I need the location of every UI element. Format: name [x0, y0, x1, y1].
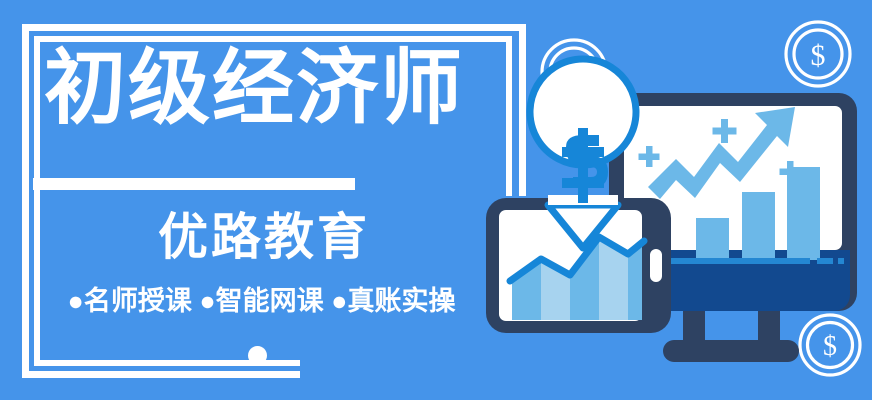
coin-icon-bottom-right: $ — [800, 315, 860, 375]
coin-icon-top-right: $ — [786, 22, 850, 86]
page-title: 初级经济师 — [44, 48, 504, 130]
chart-bar — [696, 218, 729, 260]
svg-text:$: $ — [811, 39, 826, 72]
frame-accent-dot — [248, 346, 267, 365]
finance-illustration: $ $ $ — [470, 0, 872, 400]
chart-bar — [742, 192, 775, 260]
svg-text:$: $ — [823, 331, 837, 362]
brand-name: 优路教育 — [44, 212, 484, 262]
promo-banner: 初级经济师 优路教育 ●名师授课 ●智能网课 ●真账实操 $ $ $ — [0, 0, 872, 400]
title-divider — [33, 178, 355, 190]
feature-list: ●名师授课 ●智能网课 ●真账实操 — [34, 286, 489, 317]
chart-bar — [787, 167, 820, 260]
